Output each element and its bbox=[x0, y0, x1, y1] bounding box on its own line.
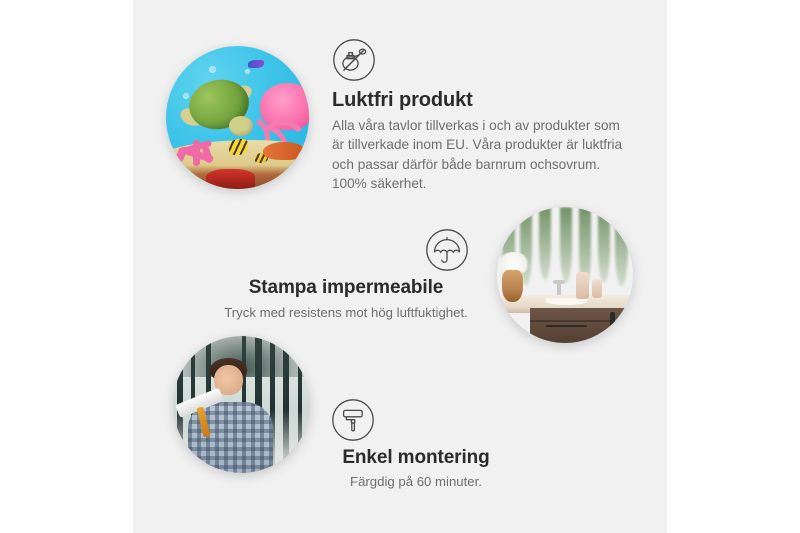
feature-easy-mounting: Enkel montering Färgdig på 60 minuter. bbox=[300, 398, 532, 491]
photo-underwater bbox=[166, 46, 309, 189]
vanity-cabinet bbox=[530, 308, 633, 343]
feature-description: Tryck med resistens mot hög luftfuktighe… bbox=[205, 304, 487, 323]
no-scent-bottle-icon bbox=[332, 38, 376, 82]
fish-icon bbox=[229, 139, 248, 155]
bubble-icon bbox=[245, 69, 250, 74]
photo-forest bbox=[173, 336, 310, 473]
feature-description: Alla våra tavlor tillverkas i och av pro… bbox=[332, 116, 628, 193]
forest-scene bbox=[173, 336, 310, 473]
feature-title: Stampa impermeabile bbox=[205, 276, 487, 300]
underwater-scene bbox=[166, 46, 309, 189]
photo-bathroom bbox=[497, 207, 633, 343]
vase bbox=[502, 270, 522, 303]
promo-graphic: Luktfri produkt Alla våra tavlor tillver… bbox=[0, 0, 800, 533]
starfish bbox=[263, 142, 306, 161]
shipwreck bbox=[206, 169, 255, 189]
feature-title: Luktfri produkt bbox=[332, 88, 628, 113]
bathroom-scene bbox=[497, 207, 633, 343]
feature-waterproof: Stampa impermeabile Tryck med resistens … bbox=[205, 228, 487, 322]
bottle bbox=[576, 272, 590, 299]
feature-title: Enkel montering bbox=[300, 446, 532, 470]
bottle bbox=[592, 279, 602, 298]
feature-odourless: Luktfri produkt Alla våra tavlor tillver… bbox=[332, 38, 628, 193]
feature-description: Färgdig på 60 minuter. bbox=[300, 473, 532, 492]
cabinet-handle bbox=[546, 325, 587, 327]
coral bbox=[173, 123, 223, 166]
sink-basin bbox=[546, 298, 587, 305]
umbrella-icon bbox=[425, 228, 469, 272]
bubble-icon bbox=[209, 66, 216, 73]
cabinet-handle bbox=[610, 312, 616, 334]
paint-roller-icon bbox=[331, 398, 375, 442]
